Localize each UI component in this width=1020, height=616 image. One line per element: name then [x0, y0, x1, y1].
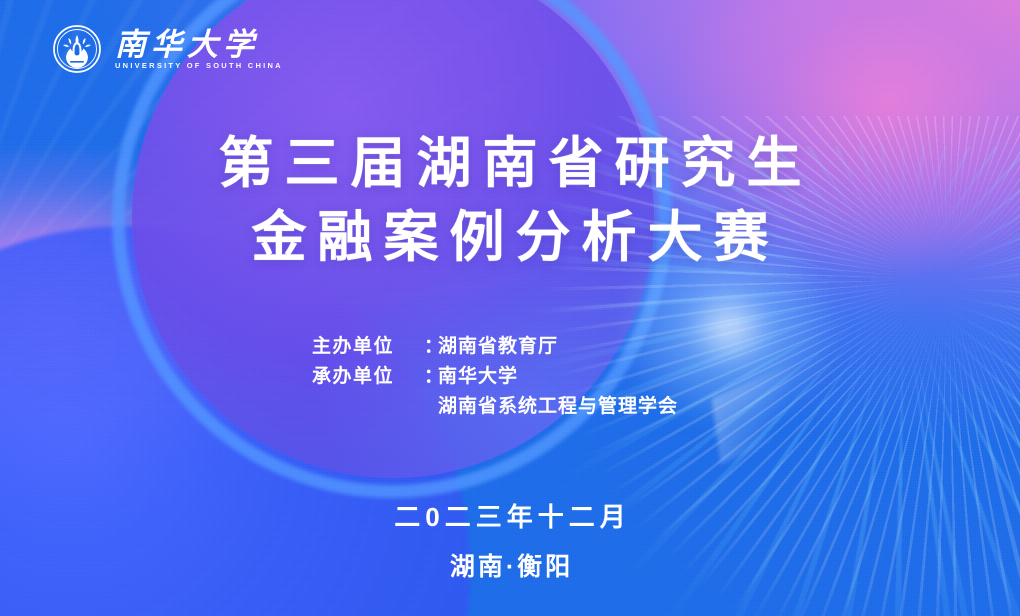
organizer-colon: ：	[424, 332, 438, 362]
organizer-label: 承办单位	[312, 362, 424, 392]
organizer-colon: ：	[424, 362, 438, 392]
organizer-label: 主办单位	[312, 332, 424, 362]
event-date: 二0二三年十二月	[0, 498, 1020, 536]
university-logo: 南华大学 UNIVERSITY OF SOUTH CHINA	[52, 24, 283, 74]
organizer-value: 湖南省系统工程与管理学会	[438, 392, 708, 422]
organizer-row: 承办单位 ： 南华大学	[312, 362, 708, 392]
organizer-value: 南华大学	[438, 362, 708, 392]
organizer-value: 湖南省教育厅	[438, 332, 708, 362]
headline-line-1: 第三届湖南省研究生	[0, 126, 1020, 200]
headline-line-2: 金融案例分析大赛	[0, 200, 1020, 274]
event-location: 湖南·衡阳	[0, 550, 1020, 584]
organizer-colon	[424, 392, 438, 422]
university-wordmark: 南华大学 UNIVERSITY OF SOUTH CHINA	[115, 29, 283, 70]
organizer-block: 主办单位 ： 湖南省教育厅 承办单位 ： 南华大学 湖南省系统工程与管理学会	[0, 332, 1020, 422]
poster-canvas: 南华大学 UNIVERSITY OF SOUTH CHINA 第三届湖南省研究生…	[0, 0, 1020, 616]
university-seal-icon	[52, 24, 102, 74]
poster-content: 南华大学 UNIVERSITY OF SOUTH CHINA 第三届湖南省研究生…	[0, 0, 1020, 616]
organizer-row: 主办单位 ： 湖南省教育厅	[312, 332, 708, 362]
organizer-row: 湖南省系统工程与管理学会	[312, 392, 708, 422]
poster-footer: 二0二三年十二月 湖南·衡阳	[0, 498, 1020, 584]
university-name-cn: 南华大学	[115, 29, 283, 60]
university-name-en: UNIVERSITY OF SOUTH CHINA	[115, 62, 283, 70]
organizer-label	[312, 392, 424, 422]
poster-headline: 第三届湖南省研究生 金融案例分析大赛	[0, 126, 1020, 274]
